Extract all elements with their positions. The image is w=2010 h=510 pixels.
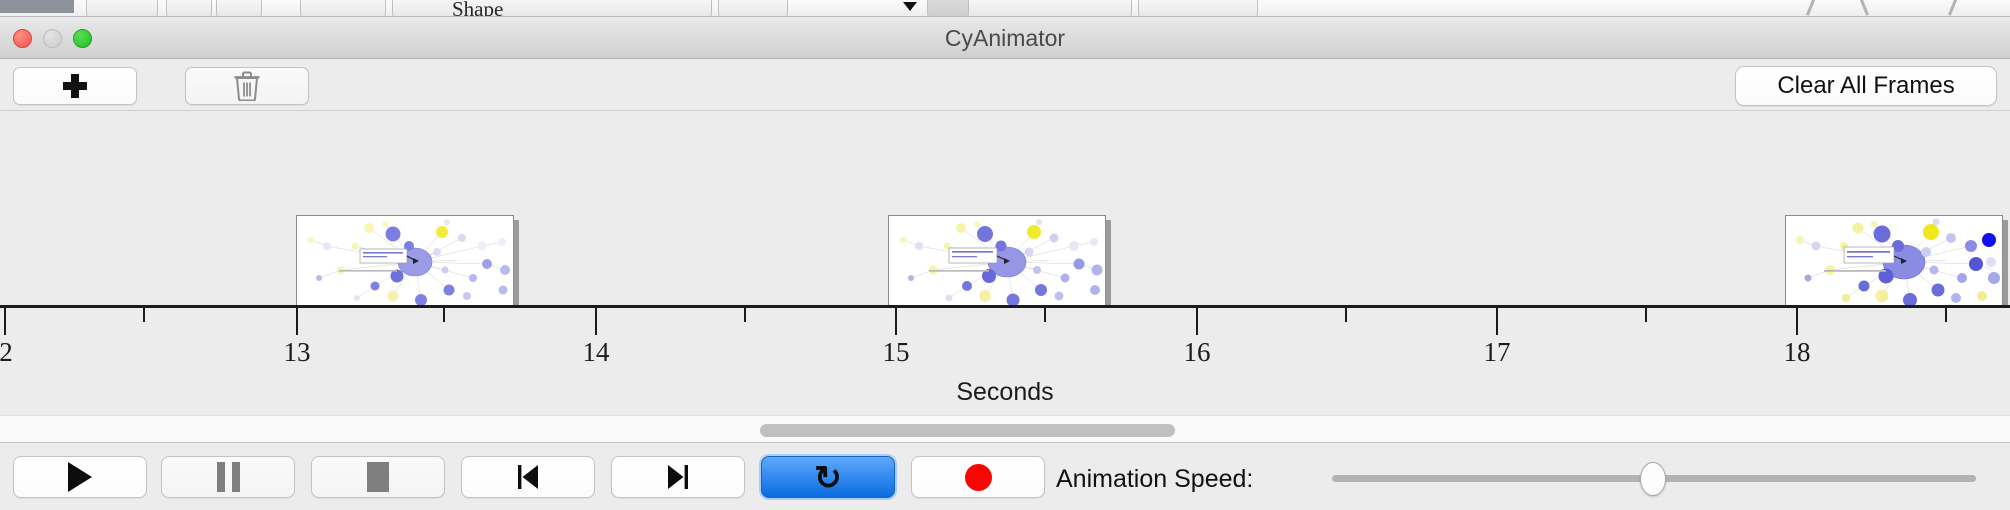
ruler-tick-major [1796, 308, 1798, 335]
ruler-tick-minor [1645, 308, 1647, 322]
record-icon [965, 464, 992, 491]
ruler-tick-major [595, 308, 597, 335]
background-field-fragment [718, 0, 788, 17]
background-toolbar-fragment [86, 0, 158, 17]
play-icon [68, 462, 92, 492]
clear-all-frames-button[interactable]: Clear All Frames [1735, 66, 1997, 106]
trash-icon [233, 71, 261, 101]
animation-speed-label: Animation Speed: [1056, 465, 1253, 494]
delete-frame-button[interactable] [185, 67, 309, 105]
skip-back-icon [513, 462, 543, 492]
cyanimator-window: Shape CyAnimator [0, 0, 2010, 510]
animation-speed-slider-thumb[interactable] [1640, 462, 1666, 496]
ruler-tick-minor [1044, 308, 1046, 322]
timeline-track[interactable] [0, 111, 2010, 305]
background-field-fragment [392, 0, 712, 17]
record-button[interactable] [911, 456, 1045, 498]
frame-toolbar: Clear All Frames [0, 59, 2010, 111]
pause-button[interactable] [161, 456, 295, 498]
ruler-axis-title: Seconds [0, 378, 2010, 407]
background-titlebar-fragment [0, 0, 74, 13]
ruler-tick-minor [744, 308, 746, 322]
ruler-tick-minor [443, 308, 445, 322]
ruler-label: 13 [284, 337, 311, 368]
pause-icon [217, 462, 240, 492]
ruler-tick-major [1196, 308, 1198, 335]
ruler-label: 14 [583, 337, 610, 368]
ruler-tick-major [4, 308, 6, 335]
window-title: CyAnimator [0, 17, 2010, 59]
ruler-label: 16 [1184, 337, 1211, 368]
network-thumbnail[interactable] [296, 215, 514, 305]
ruler-label: 2 [0, 337, 13, 368]
loop-icon: ↻ [814, 461, 842, 494]
skip-to-start-button[interactable] [461, 456, 595, 498]
background-window-strip: Shape [0, 0, 2010, 17]
skip-to-end-button[interactable] [611, 456, 745, 498]
animation-speed-slider[interactable] [1332, 475, 1976, 482]
ruler-label: 18 [1784, 337, 1811, 368]
background-window-label: Shape [452, 0, 503, 17]
playback-toolbar: ↻ Animation Speed: [0, 442, 2010, 510]
time-ruler[interactable]: 2 13 14 15 16 17 18 Seconds [0, 305, 2010, 415]
stop-button[interactable] [311, 456, 445, 498]
ruler-label: 15 [883, 337, 910, 368]
add-frame-button[interactable] [13, 67, 137, 105]
ruler-tick-minor [143, 308, 145, 322]
ruler-tick-minor [1945, 308, 1947, 322]
stop-icon [367, 462, 389, 492]
background-toolbar-fragment [166, 0, 212, 17]
plus-icon [62, 73, 88, 99]
network-thumbnail[interactable] [888, 215, 1106, 305]
background-field-fragment [1138, 0, 1258, 17]
loop-button[interactable]: ↻ [761, 456, 895, 498]
timeline-scrollbar[interactable] [0, 415, 2010, 442]
timeline-scrollbar-thumb[interactable] [760, 424, 1175, 437]
network-thumbnail[interactable] [1785, 215, 2003, 305]
clear-all-frames-label: Clear All Frames [1777, 72, 1954, 100]
window-titlebar[interactable]: CyAnimator [0, 17, 2010, 59]
play-button[interactable] [13, 456, 147, 498]
background-button-fragment [927, 0, 969, 17]
ruler-tick-major [1496, 308, 1498, 335]
background-field-fragment [942, 0, 1132, 17]
background-toolbar-fragment [300, 0, 386, 17]
skip-forward-icon [663, 462, 693, 492]
ruler-tick-major [296, 308, 298, 335]
ruler-baseline [0, 305, 2010, 308]
background-caret-icon [903, 2, 917, 11]
background-toolbar-fragment [216, 0, 262, 17]
ruler-tick-major [895, 308, 897, 335]
ruler-label: 17 [1484, 337, 1511, 368]
ruler-tick-minor [1345, 308, 1347, 322]
